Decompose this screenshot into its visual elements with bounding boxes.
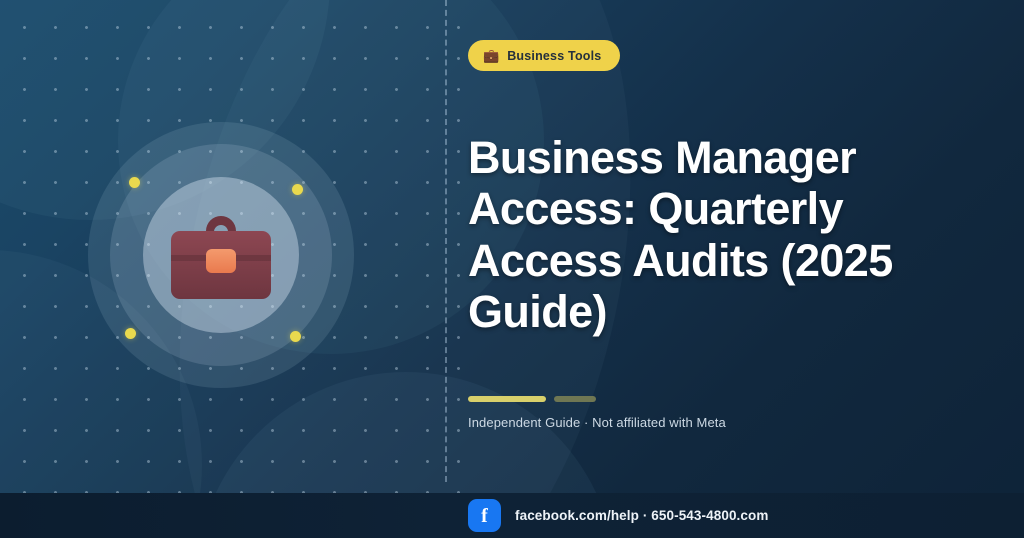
page-title: Business Manager Access: Quarterly Acces…	[468, 132, 938, 337]
content-column: 💼 Business Tools Business Manager Access…	[468, 0, 1024, 493]
orbit-dot-top-right	[292, 184, 303, 195]
orbit-dot-bottom-right	[290, 331, 301, 342]
briefcase-illustration-icon	[168, 205, 274, 305]
orbit-dot-bottom-left	[125, 328, 136, 339]
category-badge-label: Business Tools	[507, 49, 601, 63]
footer-bar: f facebook.com/help · 650-543-4800.com	[0, 493, 1024, 538]
accent-bars	[468, 396, 596, 402]
vertical-dashed-divider	[445, 0, 447, 482]
orbit-dot-top-left	[129, 177, 140, 188]
category-badge[interactable]: 💼 Business Tools	[468, 40, 620, 71]
footer-contact-text: facebook.com/help · 650-543-4800.com	[515, 508, 768, 523]
disclaimer-subtitle: Independent Guide · Not affiliated with …	[468, 415, 726, 430]
facebook-icon[interactable]: f	[468, 499, 501, 532]
briefcase-icon: 💼	[483, 49, 499, 62]
accent-bar-secondary	[554, 396, 596, 402]
hero-card: 💼 Business Tools Business Manager Access…	[0, 0, 1024, 538]
accent-bar-primary	[468, 396, 546, 402]
